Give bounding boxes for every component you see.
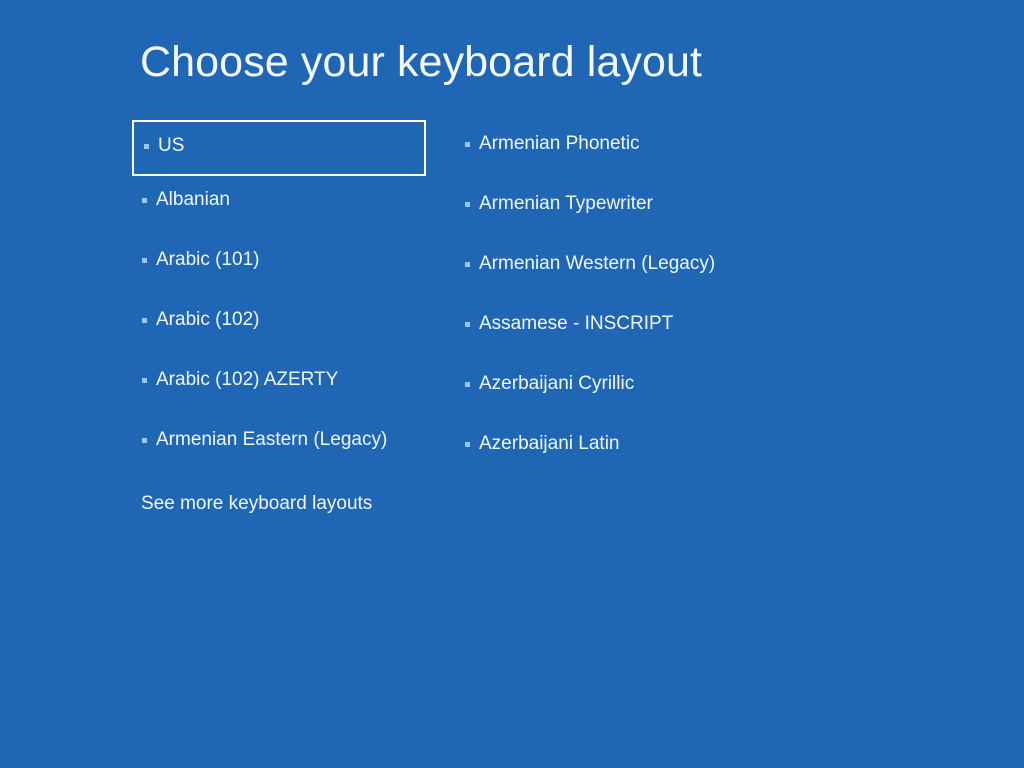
keyboard-layout-option[interactable]: Armenian Typewriter xyxy=(458,180,798,240)
keyboard-layout-option-label: Armenian Phonetic xyxy=(479,132,640,156)
keyboard-layout-option-label: Albanian xyxy=(156,188,230,212)
keyboard-layout-list-left: USAlbanianArabic (101)Arabic (102)Arabic… xyxy=(132,120,432,476)
bullet-icon xyxy=(465,382,470,387)
keyboard-layout-option-label: Armenian Western (Legacy) xyxy=(479,252,715,276)
bullet-icon xyxy=(142,198,147,203)
keyboard-layout-option-label: Armenian Typewriter xyxy=(479,192,653,216)
keyboard-layout-option-label: Arabic (101) xyxy=(156,248,260,272)
page-title: Choose your keyboard layout xyxy=(140,36,702,88)
bullet-icon xyxy=(142,318,147,323)
bullet-icon xyxy=(465,202,470,207)
keyboard-layout-option[interactable]: Arabic (102) AZERTY xyxy=(132,356,432,416)
keyboard-layout-screen: Choose your keyboard layout USAlbanianAr… xyxy=(0,0,1024,768)
bullet-icon xyxy=(465,322,470,327)
keyboard-layout-option-label: Azerbaijani Cyrillic xyxy=(479,372,634,396)
keyboard-layout-list-right: Armenian PhoneticArmenian TypewriterArme… xyxy=(458,120,798,480)
keyboard-layout-option[interactable]: Assamese - INSCRIPT xyxy=(458,300,798,360)
keyboard-layout-option-label: Assamese - INSCRIPT xyxy=(479,312,673,336)
keyboard-layout-option-label: Armenian Eastern (Legacy) xyxy=(156,428,387,452)
keyboard-layout-option[interactable]: Armenian Eastern (Legacy) xyxy=(132,416,432,476)
keyboard-layout-option-label: Arabic (102) xyxy=(156,308,260,332)
keyboard-layout-option[interactable]: Azerbaijani Cyrillic xyxy=(458,360,798,420)
keyboard-layout-option[interactable]: Albanian xyxy=(132,176,432,236)
keyboard-layout-option[interactable]: Arabic (101) xyxy=(132,236,432,296)
bullet-icon xyxy=(142,258,147,263)
keyboard-layout-option[interactable]: Azerbaijani Latin xyxy=(458,420,798,480)
keyboard-layout-option[interactable]: Arabic (102) xyxy=(132,296,432,356)
keyboard-layout-option[interactable]: Armenian Western (Legacy) xyxy=(458,240,798,300)
keyboard-layout-option[interactable]: Armenian Phonetic xyxy=(458,120,798,180)
bullet-icon xyxy=(465,142,470,147)
bullet-icon xyxy=(142,438,147,443)
bullet-icon xyxy=(142,378,147,383)
see-more-keyboard-layouts-link[interactable]: See more keyboard layouts xyxy=(141,492,372,516)
keyboard-layout-option-label: Arabic (102) AZERTY xyxy=(156,368,338,392)
keyboard-layout-option-label: Azerbaijani Latin xyxy=(479,432,619,456)
bullet-icon xyxy=(465,442,470,447)
keyboard-layout-option-label: US xyxy=(158,134,184,158)
bullet-icon xyxy=(144,144,149,149)
bullet-icon xyxy=(465,262,470,267)
keyboard-layout-option[interactable]: US xyxy=(132,120,426,176)
